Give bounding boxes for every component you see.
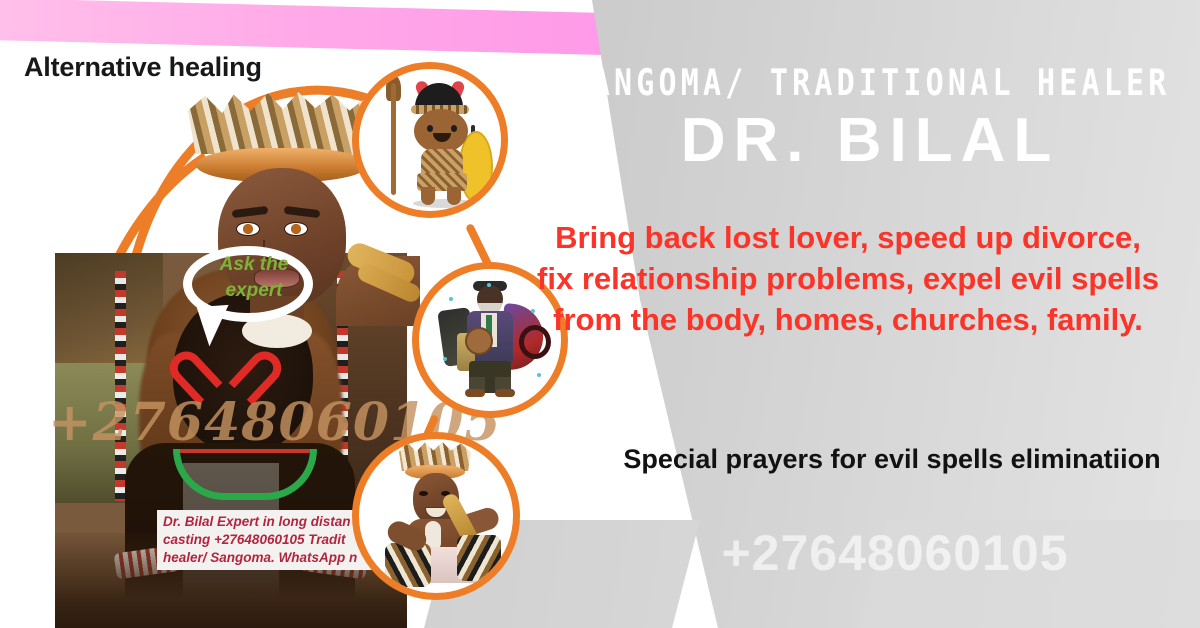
circle-thumb-zulu-warrior[interactable]	[352, 62, 508, 218]
poster-canvas: Alternative healing	[0, 0, 1200, 628]
spear-shaft	[391, 83, 396, 195]
chief-eye-right	[284, 222, 308, 236]
sparkle-1	[449, 297, 453, 301]
warrior-head	[414, 109, 468, 153]
feather-crown-icon	[188, 92, 378, 154]
healer-drum	[465, 327, 493, 355]
zulu-warrior-cartoon-icon	[359, 69, 501, 211]
circle-thumb-kneeling-sangoma[interactable]	[352, 432, 520, 600]
warrior-leg-right	[447, 187, 461, 205]
phone-watermark: +27648060105	[600, 524, 1190, 582]
sparkle-4	[537, 373, 541, 377]
prayers-text: Special prayers for evil spells eliminat…	[600, 442, 1184, 478]
kneeling-sangoma-figure-icon	[359, 439, 513, 593]
kicker-title: SANGOMA/ TRADITIONAL HEALER	[560, 62, 1180, 105]
services-text: Bring back lost lover, speed up divorce,…	[536, 218, 1160, 341]
warrior-leg-left	[421, 187, 435, 205]
healer-shoe-right	[495, 389, 515, 397]
top-pink-bar	[0, 0, 610, 55]
page-title: Alternative healing	[24, 52, 262, 83]
bead-strand-left	[115, 271, 126, 501]
chief-eye-left	[236, 222, 260, 236]
sangoma-fur-right	[457, 535, 501, 581]
caption-line-1: Dr. Bilal Expert in long distan	[163, 513, 377, 531]
sangoma-eye-left	[419, 491, 428, 496]
sangoma-fur-left	[385, 543, 431, 587]
doctor-name-title: DR. BILAL	[560, 108, 1180, 173]
ask-the-expert-label: Ask the expert	[196, 252, 312, 303]
sparkle-3	[443, 357, 447, 361]
sparkle-5	[487, 283, 491, 287]
healer-shoe-left	[465, 389, 485, 397]
caption-line-2: casting +27648060105 Tradit	[163, 531, 377, 549]
sparkle-2	[531, 309, 535, 313]
warrior-eye-right	[451, 125, 457, 132]
photo-caption-box: Dr. Bilal Expert in long distan casting …	[157, 510, 382, 570]
caption-line-3: healer/ Sangoma. WhatsApp n	[163, 549, 377, 567]
warrior-eye-left	[427, 125, 433, 132]
